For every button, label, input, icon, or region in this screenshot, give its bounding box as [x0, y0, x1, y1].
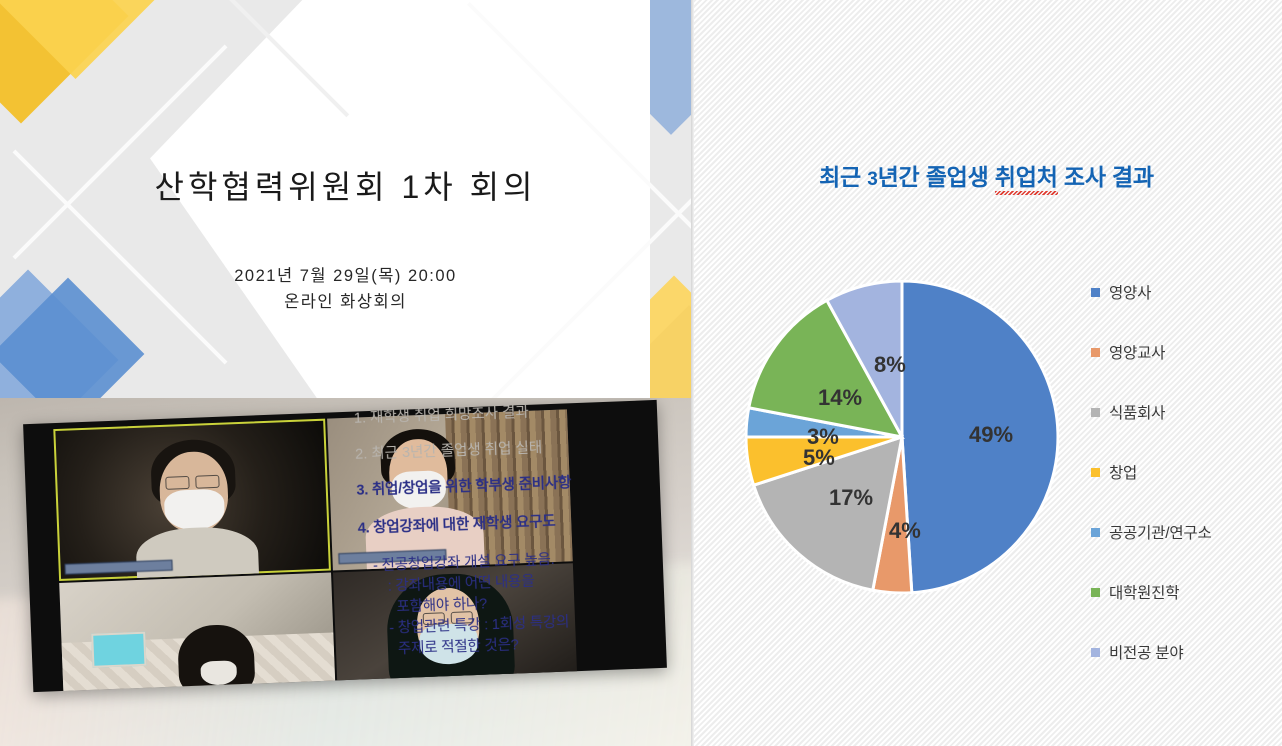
glasses-icon [195, 475, 219, 489]
pie-chart: 49%4%17%5%3%14%8% [745, 280, 1059, 594]
chart-title-misspelled-word: 취업처 [995, 158, 1058, 192]
glasses-icon [165, 476, 189, 490]
meeting-photo: 1. 재학생 취업 희망조사 결과2. 최근 3년간 졸업생 취업 실태3. 취… [0, 398, 691, 746]
legend-swatch-icon [1091, 348, 1100, 357]
chart-legend: 영양사영양교사식품회사창업공공기관/연구소대학원진학비전공 분야 [1091, 262, 1281, 682]
legend-swatch-icon [1091, 528, 1100, 537]
legend-label: 비전공 분야 [1109, 641, 1183, 663]
page-title: 산학협력위원회 1차 회의 [155, 162, 537, 208]
legend-label: 영양사 [1109, 281, 1151, 303]
legend-item[interactable]: 비전공 분야 [1091, 622, 1281, 682]
meeting-datetime: 2021년 7월 29일(목) 20:00 [234, 264, 457, 290]
legend-swatch-icon [1091, 288, 1100, 297]
pie-slice-label: 17% [829, 485, 873, 511]
legend-item[interactable]: 공공기관/연구소 [1091, 502, 1281, 562]
meeting-venue: 온라인 화상회의 [234, 290, 457, 316]
agenda-overlay-text: 1. 재학생 취업 희망조사 결과2. 최근 3년간 졸업생 취업 실태3. 취… [354, 400, 691, 664]
legend-item[interactable]: 영양사 [1091, 262, 1281, 322]
legend-label: 영양교사 [1109, 341, 1165, 363]
legend-label: 식품회사 [1109, 401, 1165, 423]
desk-object [91, 632, 146, 668]
left-slide-panel: 산학협력위원회 1차 회의 2021년 7월 29일(목) 20:00 온라인 … [0, 0, 691, 746]
legend-label: 공공기관/연구소 [1109, 521, 1212, 543]
legend-item[interactable]: 식품회사 [1091, 382, 1281, 442]
title-slide: 산학협력위원회 1차 회의 2021년 7월 29일(목) 20:00 온라인 … [0, 0, 691, 398]
legend-swatch-icon [1091, 588, 1100, 597]
pie-slice-label: 4% [889, 518, 921, 544]
meeting-details: 2021년 7월 29일(목) 20:00 온라인 화상회의 [234, 264, 457, 315]
legend-item[interactable]: 창업 [1091, 442, 1281, 502]
chart-title-prefix: 최근 [819, 164, 867, 190]
chart-title-middle: 년간 졸업생 [878, 164, 995, 190]
legend-label: 창업 [1109, 461, 1137, 483]
video-tile-participant-1 [53, 419, 331, 581]
legend-swatch-icon [1091, 468, 1100, 477]
video-tile-participant-3 [59, 573, 336, 693]
pie-slice-label: 14% [818, 385, 862, 411]
chart-slide-panel: 최근 3년간 졸업생 취업처 조사 결과 49%4%17%5%3%14%8% 영… [691, 0, 1282, 746]
agenda-line: 4. 창업강좌에 대한 재학생 요구도 [358, 510, 688, 537]
participant-body [135, 525, 259, 581]
legend-swatch-icon [1091, 408, 1100, 417]
legend-swatch-icon [1091, 648, 1100, 657]
pie-slice-label: 49% [969, 422, 1013, 448]
legend-label: 대학원진학 [1109, 581, 1179, 603]
pie-slice-label: 8% [874, 352, 906, 378]
agenda-line: 3. 취업/창업을 위한 학부생 준비사항 [356, 472, 686, 499]
slide-pair-screenshot: 산학협력위원회 1차 회의 2021년 7월 29일(목) 20:00 온라인 … [0, 0, 1282, 746]
legend-item[interactable]: 대학원진학 [1091, 562, 1281, 622]
legend-item[interactable]: 영양교사 [1091, 322, 1281, 382]
pie-slice-label: 3% [807, 424, 839, 450]
chart-title: 최근 3년간 졸업생 취업처 조사 결과 [691, 158, 1282, 192]
chart-title-number: 3 [867, 169, 877, 190]
chart-title-suffix: 조사 결과 [1058, 164, 1154, 190]
agenda-line: 2. 최근 3년간 졸업생 취업 실태 [355, 436, 685, 463]
panel-divider [691, 0, 694, 746]
